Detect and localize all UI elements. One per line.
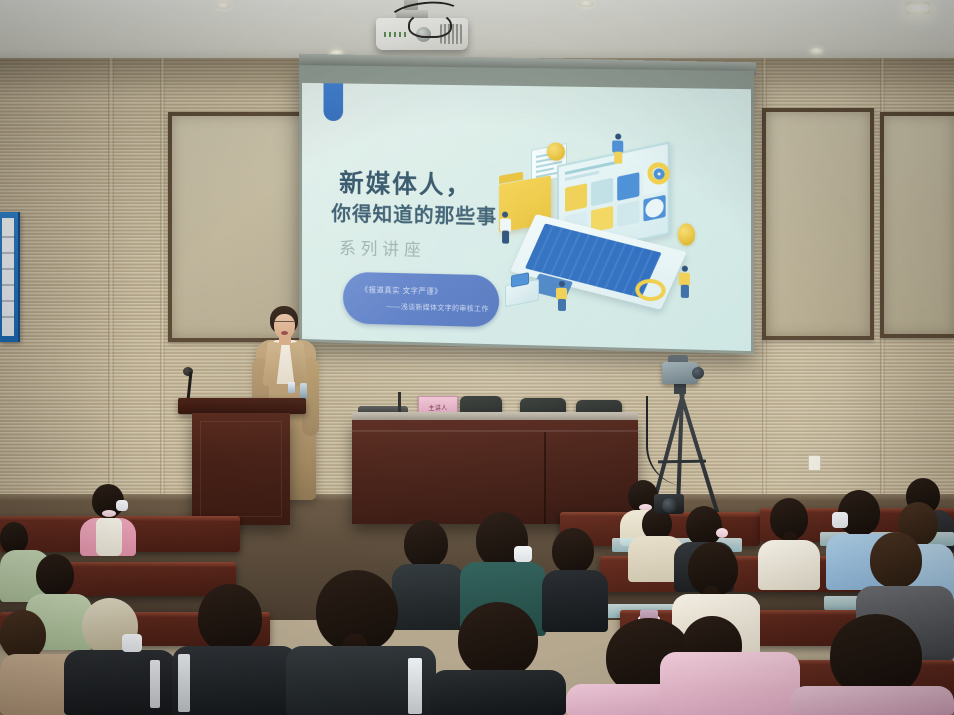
bookmark-tab-icon: [324, 83, 344, 121]
wall-panel-far-right: [880, 112, 954, 338]
podium-top: [178, 398, 306, 414]
presentation-slide: 新媒体人， 你得知道的那些事 系列讲座 《报道真实 文字严谨》 ——浅谈新媒体文…: [302, 83, 751, 351]
nameplate-text: 主讲人: [419, 403, 457, 412]
lecture-hall-photo: 新媒体人， 你得知道的那些事 系列讲座 《报道真实 文字严谨》 ——浅谈新媒体文…: [0, 0, 954, 715]
audience-member: [758, 498, 820, 590]
audience-area: [0, 470, 954, 715]
table-microphone: [398, 392, 401, 412]
slide-subtitle-pill: 《报道真实 文字严谨》 ——浅谈新媒体文字的审核工作: [343, 272, 499, 328]
slide-series-text: 系列讲座: [339, 234, 426, 261]
projection-screen: 新媒体人， 你得知道的那些事 系列讲座 《报道真实 文字严谨》 ——浅谈新媒体文…: [299, 65, 754, 354]
audience-member: [286, 570, 436, 715]
downlight-icon: [810, 48, 823, 54]
slide-pill-line1: 《报道真实 文字严谨》: [361, 284, 442, 297]
projector-status-leds: [384, 32, 406, 37]
projector-cable: [408, 12, 452, 38]
audience-member: [172, 584, 298, 715]
person-figure-icon: [555, 281, 569, 311]
glasses-icon: [274, 321, 294, 325]
downlight-icon: [215, 2, 231, 9]
audience-member: [430, 602, 566, 715]
wall-outlet-icon: [808, 455, 821, 471]
ring-blue-icon: [654, 168, 665, 179]
person-figure-icon: [611, 133, 625, 163]
ring-icon: [635, 279, 665, 302]
camera-lens-icon: [692, 367, 704, 379]
wall-seam: [108, 58, 114, 538]
slide-pill-line2: ——浅谈新媒体文字的审核工作: [386, 302, 488, 315]
audience-member: [80, 484, 136, 556]
audience-member: [64, 598, 176, 715]
badge-icon: [288, 382, 295, 393]
person-figure-icon: [499, 211, 513, 243]
presenter-face: [274, 314, 295, 339]
ceiling-light-panel: [905, 2, 931, 14]
slide-title-main: 新媒体人，: [339, 171, 472, 201]
downlight-icon: [578, 0, 594, 7]
audience-member: [660, 596, 800, 715]
slide-title-sub: 你得知道的那些事: [331, 203, 497, 228]
framed-blue-certificate: [0, 212, 20, 342]
camera-mount: [674, 384, 686, 394]
wall-panel-right: [762, 108, 874, 340]
wall-seam: [160, 58, 165, 538]
person-figure-icon: [678, 266, 692, 299]
isometric-new-media-illustration: [495, 124, 741, 342]
audience-member: [790, 614, 954, 715]
coin-icon: [547, 142, 565, 160]
presenter-mouth: [281, 331, 288, 335]
tripod-brace: [658, 460, 706, 464]
coin-icon: [678, 223, 695, 246]
